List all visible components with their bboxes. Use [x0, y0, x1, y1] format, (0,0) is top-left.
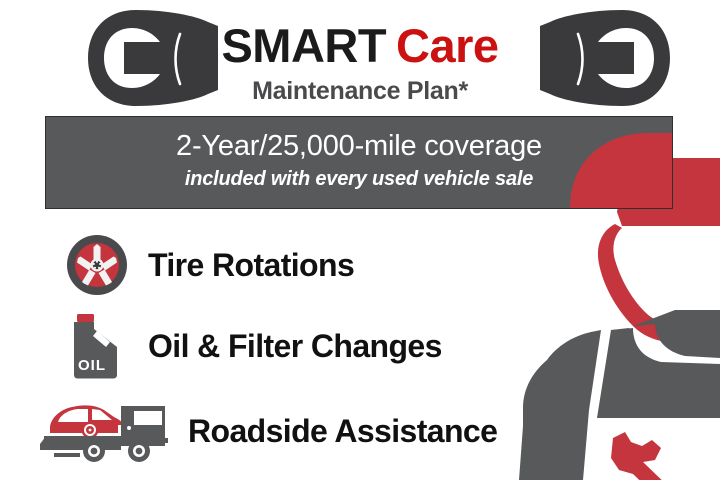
benefit-label: Oil & Filter Changes [148, 330, 442, 362]
tire-wheel-icon [66, 234, 128, 296]
wrench-icon [540, 6, 674, 110]
banner-headline: 2-Year/25,000-mile coverage [176, 130, 542, 163]
oil-bottle-icon: OIL [70, 313, 122, 379]
brand-secondary: Care [396, 19, 499, 72]
benefit-item-tire-rotations: Tire Rotations [66, 234, 354, 296]
brand-primary: SMART [221, 19, 386, 72]
benefit-label: Roadside Assistance [188, 415, 497, 447]
coverage-banner: 2-Year/25,000-mile coverage included wit… [45, 116, 673, 209]
tow-truck-icon [38, 398, 170, 464]
benefit-item-oil-filter-changes: OIL Oil & Filter Changes [70, 313, 442, 379]
smart-care-infographic: SMARTCare Maintenance Plan* [0, 0, 720, 480]
benefit-label: Tire Rotations [148, 249, 354, 281]
header: SMARTCare Maintenance Plan* [0, 0, 720, 116]
wrench-icon [611, 432, 701, 480]
oil-bottle-label: OIL [78, 357, 106, 374]
banner-subline: included with every used vehicle sale [185, 167, 533, 191]
benefit-item-roadside-assistance: Roadside Assistance [38, 398, 497, 464]
